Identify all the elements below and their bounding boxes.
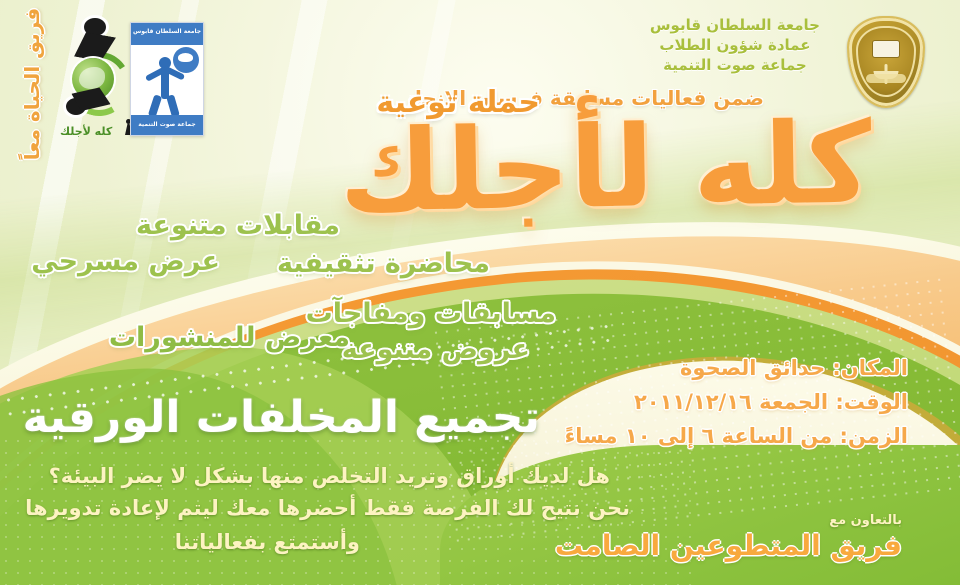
logo-bottom-band: جماعة صوت التنمية: [131, 115, 203, 135]
event-location: المكان: حدائق الصحوة: [680, 358, 908, 379]
recycling-globe-icon: كله لأجلك: [58, 18, 130, 136]
vertical-team-text: فريق الحياة معاً: [20, 8, 44, 160]
crest-book-icon: [873, 41, 899, 57]
organization-block: جامعة السلطان قابوس عمادة شؤون الطلاب جم…: [650, 14, 820, 76]
activity-theatre: عرض مسرحي: [31, 248, 220, 275]
campaign-line-enjoy: وأستمتع بفعالياتنا: [175, 532, 360, 553]
event-date: الوقت: الجمعة ٢٠١١/١٢/١٦: [634, 392, 908, 413]
logo-group-text: جماعة صوت التنمية: [131, 121, 203, 128]
activity-lecture: محاضرة تثقيفية: [277, 250, 490, 277]
activity-shows: عروض متنوعة: [342, 336, 530, 363]
cooperation-partner: فريق المتطوعين الصامت: [555, 532, 902, 560]
page-title: كله لأجلك: [338, 107, 872, 228]
org-line-deanship: عمادة شؤون الطلاب: [650, 36, 820, 54]
poster-canvas: فريق الحياة معاً كله لأجلك جامعة السلطان…: [0, 0, 960, 585]
logo-university-text: جامعة السلطان قابوس: [131, 28, 203, 35]
logo-artwork: [131, 45, 203, 115]
squ-crest-icon: [847, 16, 925, 108]
logo-top-band: جامعة السلطان قابوس: [131, 23, 203, 45]
org-line-group: جماعة صوت التنمية: [650, 56, 820, 74]
crest-ribbon: [866, 74, 906, 83]
recycle-logo-caption: كله لأجلك: [60, 125, 112, 138]
cooperation-label: بالتعاون مع: [829, 514, 902, 527]
campaign-headline: تجميع المخلفات الورقية: [22, 396, 540, 440]
event-time: الزمن: من الساعة ٦ إلى ١٠ مساءً: [565, 426, 908, 447]
development-voice-logo: جامعة السلطان قابوس جماعة صوت التنمية: [130, 22, 204, 136]
org-line-university: جامعة السلطان قابوس: [650, 16, 820, 34]
activity-exhibition: معرض للمنشورات: [109, 324, 350, 351]
campaign-line-question: هل لديك أوراق وتريد التخلص منها بشكل لا …: [49, 466, 610, 487]
vertical-team-label: فريق الحياة معاً: [8, 14, 56, 154]
person-figure-icon: [145, 57, 185, 113]
campaign-line-offer: نحن نتيح لك الفرصة فقط أحضرها معك ليتم ل…: [25, 498, 630, 519]
activity-interviews: مقابلات متنوعة: [136, 212, 340, 239]
